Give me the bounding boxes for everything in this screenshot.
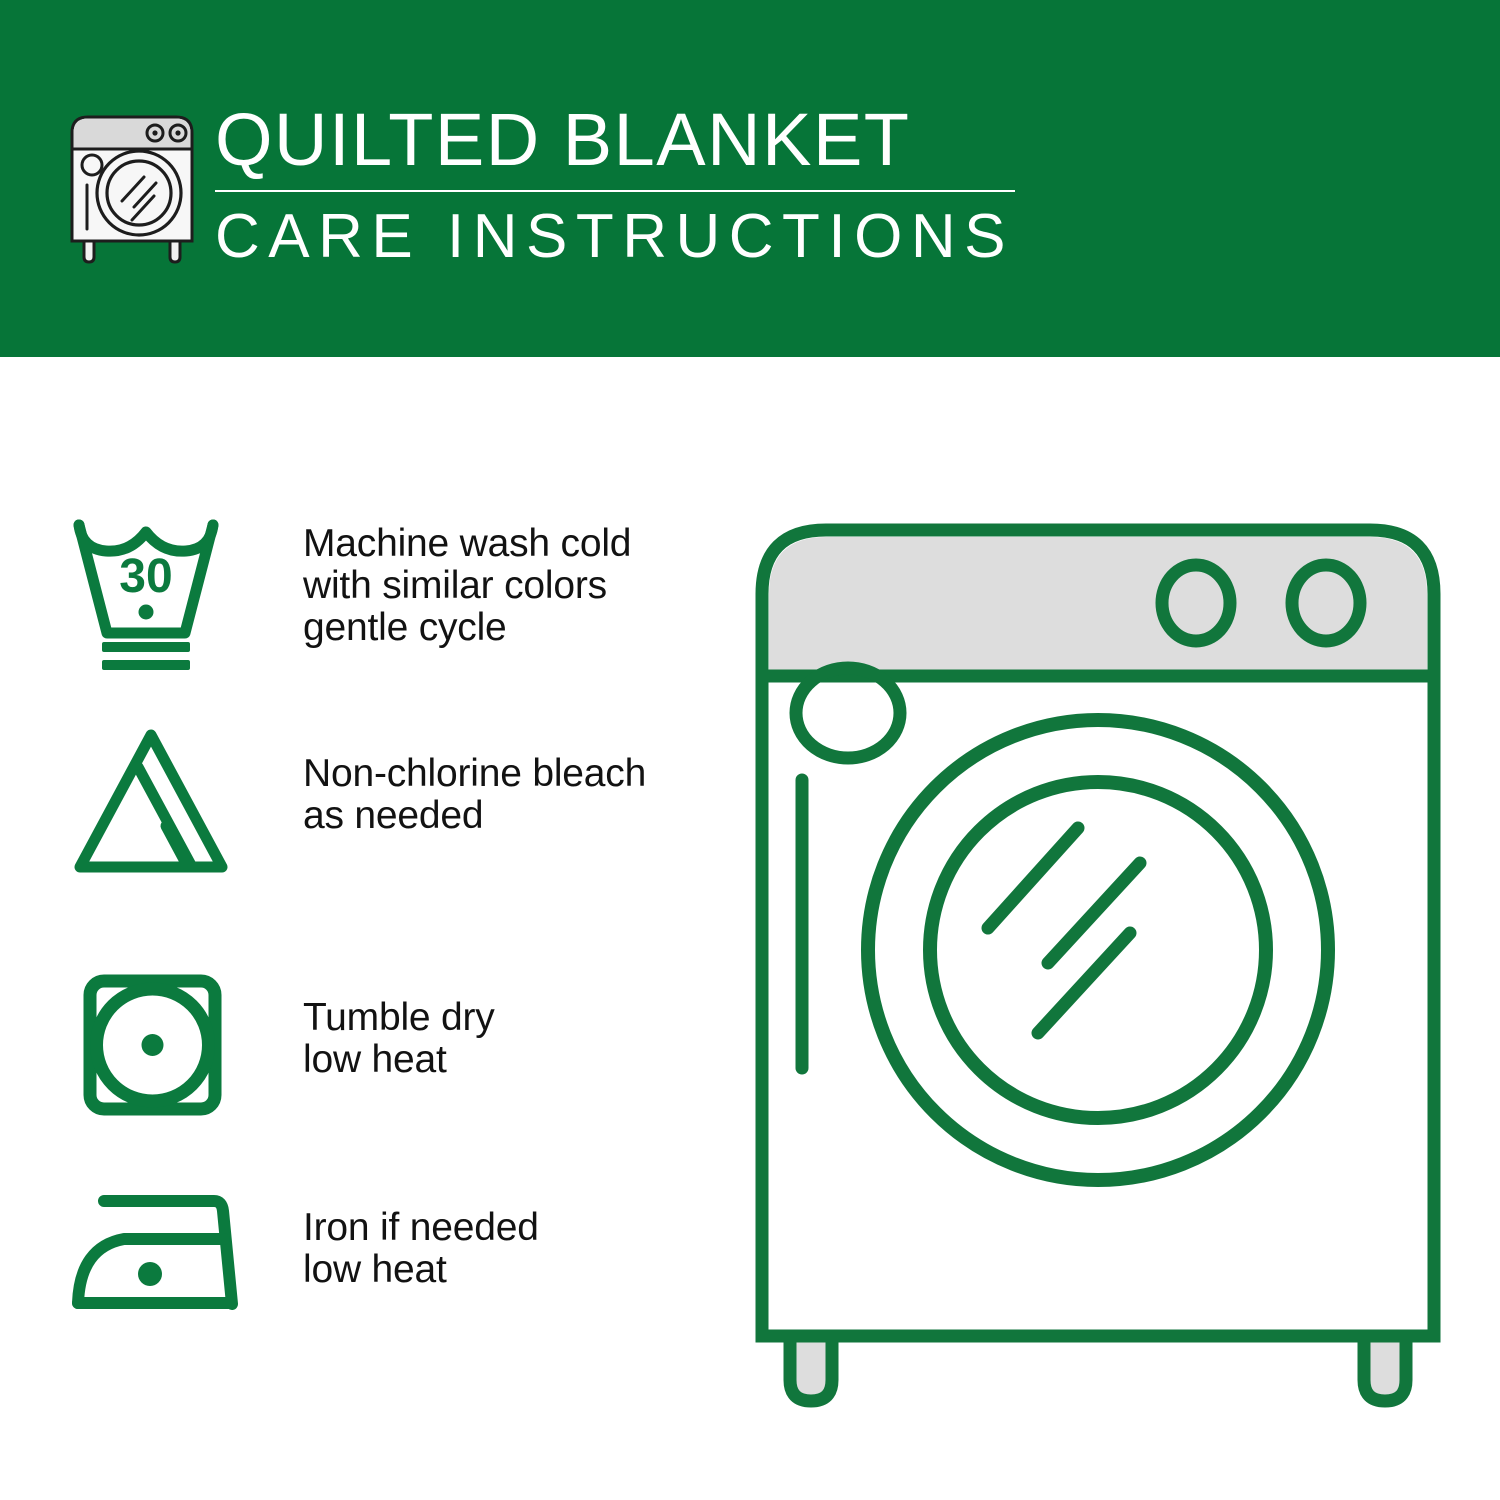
care-instruction-row: Non-chlorine bleach as needed [0, 725, 720, 895]
care-instruction-row: Tumble dry low heat [0, 969, 720, 1139]
care-instruction-row: Iron if needed low heat [0, 1189, 720, 1359]
care-label-line: low heat [303, 1039, 723, 1081]
care-instruction-label: Non-chlorine bleach as needed [303, 753, 723, 837]
care-label-line: Non-chlorine bleach [303, 753, 723, 795]
care-instruction-label: Iron if needed low heat [303, 1207, 723, 1291]
knob-left [1162, 565, 1230, 641]
care-instructions-infographic: QUILTED BLANKET CARE INSTRUCTIONS 30 [0, 0, 1500, 1500]
wash-tub-30-gentle-icon: 30 [72, 517, 247, 677]
header-band: QUILTED BLANKET CARE INSTRUCTIONS [0, 0, 1500, 357]
care-label-line: with similar colors [303, 565, 723, 607]
care-label-line: as needed [303, 795, 723, 837]
tumble-dry-low-heat-icon [72, 969, 247, 1129]
care-label-line: gentle cycle [303, 607, 723, 649]
care-label-line: Machine wash cold [303, 523, 723, 565]
iron-low-heat-icon [72, 1189, 247, 1349]
leg-right [1364, 1336, 1406, 1401]
care-instruction-label: Machine wash cold with similar colors ge… [303, 523, 723, 649]
care-instruction-label: Tumble dry low heat [303, 997, 723, 1081]
care-instruction-row: 30 Machine wash cold with similar colors… [0, 517, 720, 687]
care-instruction-list: 30 Machine wash cold with similar colors… [0, 357, 720, 1500]
title-divider [215, 190, 1015, 192]
care-label-line: Iron if needed [303, 1207, 723, 1249]
washing-machine-icon [62, 103, 202, 265]
wash-temperature-value: 30 [119, 550, 172, 603]
knob-right [1292, 565, 1360, 641]
page-subtitle: CARE INSTRUCTIONS [215, 200, 1035, 274]
care-label-line: low heat [303, 1249, 723, 1291]
triangle-non-chlorine-bleach-icon [72, 725, 247, 885]
leg-left [790, 1336, 832, 1401]
front-load-washing-machine-illustration [748, 508, 1448, 1413]
header-text-block: QUILTED BLANKET CARE INSTRUCTIONS [215, 98, 1035, 274]
page-title: QUILTED BLANKET [215, 98, 1035, 182]
care-label-line: Tumble dry [303, 997, 723, 1039]
